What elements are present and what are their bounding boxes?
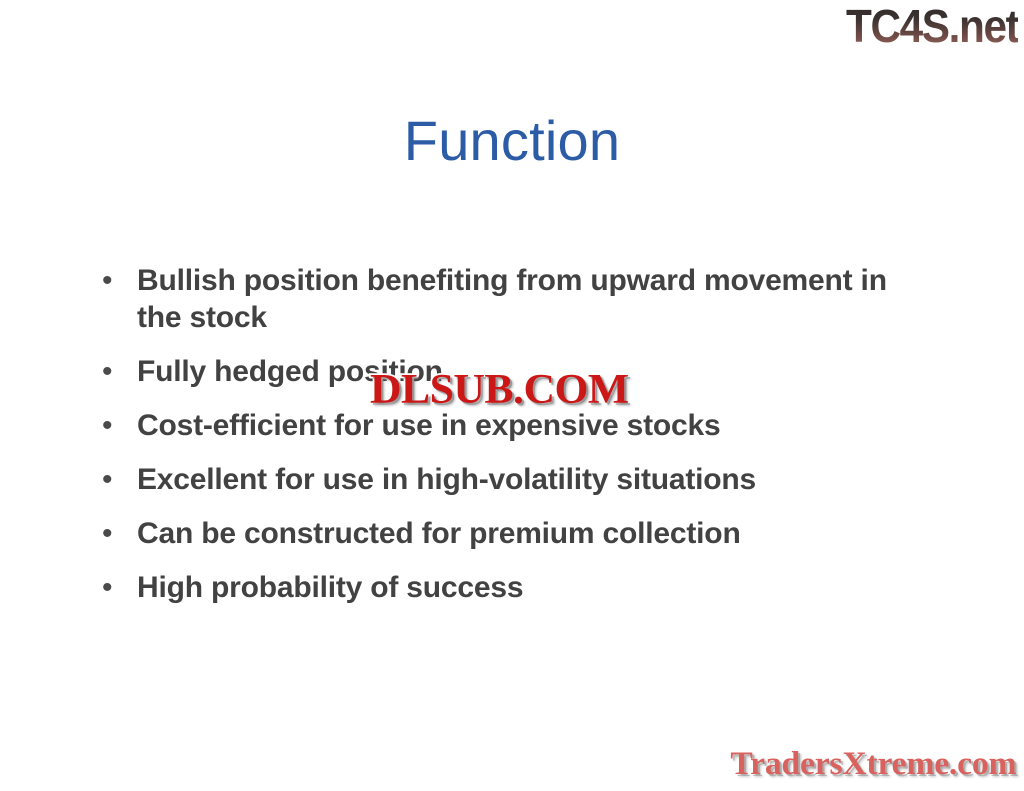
- presentation-slide: Function • Bullish position benefiting f…: [0, 0, 1024, 791]
- bullet-point-icon: •: [96, 353, 137, 390]
- list-item-label: Bullish position benefiting from upward …: [137, 262, 926, 336]
- list-item-label: Excellent for use in high-volatility sit…: [137, 461, 926, 498]
- list-item: • High probability of success: [96, 569, 926, 606]
- list-item: • Excellent for use in high-volatility s…: [96, 461, 926, 498]
- bullet-point-icon: •: [96, 569, 137, 606]
- bullet-point-icon: •: [96, 407, 137, 444]
- watermark-dlsub: DLSUB.COM: [370, 369, 629, 411]
- bullet-point-icon: •: [96, 262, 137, 299]
- list-item-label: High probability of success: [137, 569, 926, 606]
- list-item-label: Can be constructed for premium collectio…: [137, 515, 926, 552]
- bullet-point-icon: •: [96, 461, 137, 498]
- bullet-point-icon: •: [96, 515, 137, 552]
- watermark-tradersxtreme: TradersXtreme.com: [730, 747, 1016, 782]
- list-item: • Can be constructed for premium collect…: [96, 515, 926, 552]
- bullet-list: • Bullish position benefiting from upwar…: [96, 262, 926, 623]
- page-title: Function: [0, 112, 1024, 171]
- list-item: • Bullish position benefiting from upwar…: [96, 262, 926, 336]
- watermark-tc4s: TC4S.net: [846, 2, 1018, 50]
